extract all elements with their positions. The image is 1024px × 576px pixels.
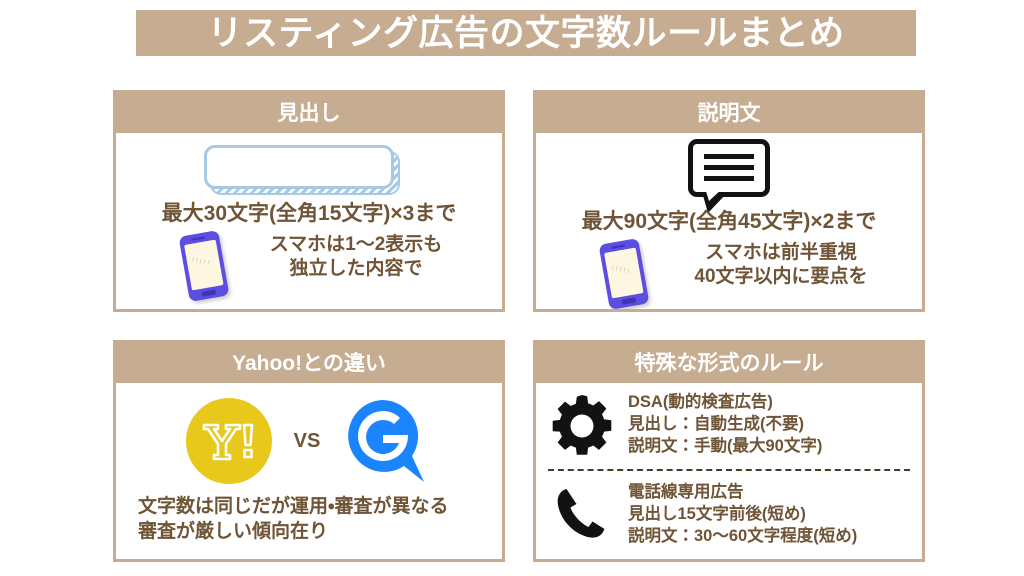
card-yahoo-sub-lines: 文字数は同じだが運用・審査が異なる 審査が厳しい傾向在り	[138, 495, 488, 544]
yahoo-logo-icon	[186, 398, 272, 484]
card-yahoo-body: VS 文字数は同じだが運用・審査が異なる 審査が厳しい傾向在り	[116, 383, 502, 559]
special-dsa-line-2: 見出し：自動生成(不要)	[628, 413, 822, 435]
special-row-dsa: DSA(動的検査広告) 見出し：自動生成(不要) 説明文：手動(最大90文字)	[550, 389, 910, 459]
speech-bubble-line-2	[704, 165, 754, 170]
special-dsa-line-3: 説明文：手動(最大90文字)	[628, 435, 822, 457]
speech-bubble-line-1	[704, 154, 754, 159]
smartphone-icon	[179, 230, 230, 302]
special-dsa-line-1: DSA(動的検査広告)	[628, 391, 822, 413]
special-call-only-lines: 電話線専用広告 見出し15文字前後(短め) 説明文：30〜60文字程度(短め)	[628, 481, 857, 547]
special-call-only-line-2: 見出し15文字前後(短め)	[628, 503, 857, 525]
card-description-body: 最大90文字(全角45文字)×2まで スマホは前半重視 40文字以内に要点を	[536, 133, 922, 309]
card-yahoo-header-label: Yahoo!との違い	[232, 353, 386, 374]
phone-icon	[550, 479, 614, 549]
speech-bubble-line-3	[704, 176, 754, 181]
google-logo-icon	[342, 396, 432, 486]
section-divider	[548, 469, 910, 471]
card-description-sub-line-1: スマホは前半重視	[656, 241, 906, 265]
gear-icon	[550, 389, 614, 459]
card-headline-sub-lines: スマホは1〜2表示も 独立した内容で	[236, 233, 476, 281]
card-yahoo-header: Yahoo!との違い	[116, 343, 502, 383]
card-headline-main-line: 最大30文字(全角15文字)×3まで	[116, 203, 502, 224]
card-yahoo-comparison: Yahoo!との違い VS	[113, 340, 505, 562]
card-headline-body: 最大30文字(全角15文字)×3まで スマホは1〜2表示も 独立した内容で	[116, 133, 502, 309]
speech-bubble-tail-inner	[705, 188, 723, 201]
logo-comparison-row: VS	[116, 391, 502, 491]
card-description-main-line: 最大90文字(全角45文字)×2まで	[536, 211, 922, 232]
card-headline-sub-line-2: 独立した内容で	[236, 257, 476, 281]
special-call-only-line-3: 説明文：30〜60文字程度(短め)	[628, 525, 857, 547]
card-description-header: 説明文	[536, 93, 922, 133]
speech-bubble-icon	[688, 139, 770, 213]
card-headline-header-label: 見出し	[278, 103, 341, 124]
card-special-body: DSA(動的検査広告) 見出し：自動生成(不要) 説明文：手動(最大90文字) …	[536, 383, 922, 559]
special-call-only-line-1: 電話線専用広告	[628, 481, 857, 503]
card-headline-header: 見出し	[116, 93, 502, 133]
card-description-sub-line-2: 40文字以内に要点を	[656, 265, 906, 289]
page-title-banner: リスティング広告の文字数ルールまとめ	[136, 10, 916, 56]
card-special-header: 特殊な形式のルール	[536, 343, 922, 383]
card-yahoo-sub-line-2: 審査が厳しい傾向在り	[138, 520, 488, 545]
special-row-call-only: 電話線専用広告 見出し15文字前後(短め) 説明文：30〜60文字程度(短め)	[550, 479, 910, 549]
card-headline-sub-line-1: スマホは1〜2表示も	[236, 233, 476, 257]
page-title: リスティング広告の文字数ルールまとめ	[208, 16, 845, 51]
card-description: 説明文 最大90文字(全角45文字)×2まで スマホは前半重視 40文字以内に要…	[533, 90, 925, 312]
card-description-sub-lines: スマホは前半重視 40文字以内に要点を	[656, 241, 906, 289]
card-yahoo-sub-line-1: 文字数は同じだが運用・審査が異なる	[138, 495, 488, 520]
smartphone-icon	[599, 238, 650, 310]
card-headline: 見出し 最大30文字(全角15文字)×3まで スマホは1〜2表示も 独立した内容…	[113, 90, 505, 312]
card-description-header-label: 説明文	[698, 103, 761, 124]
vs-label: VS	[294, 431, 321, 451]
card-special-formats: 特殊な形式のルール DSA(動的検査広告) 見出し：自動生成(不要) 説明文：手…	[533, 340, 925, 562]
card-special-header-label: 特殊な形式のルール	[635, 353, 824, 374]
input-field-icon	[204, 145, 394, 189]
special-dsa-lines: DSA(動的検査広告) 見出し：自動生成(不要) 説明文：手動(最大90文字)	[628, 391, 822, 457]
input-field-icon-front	[204, 145, 394, 189]
